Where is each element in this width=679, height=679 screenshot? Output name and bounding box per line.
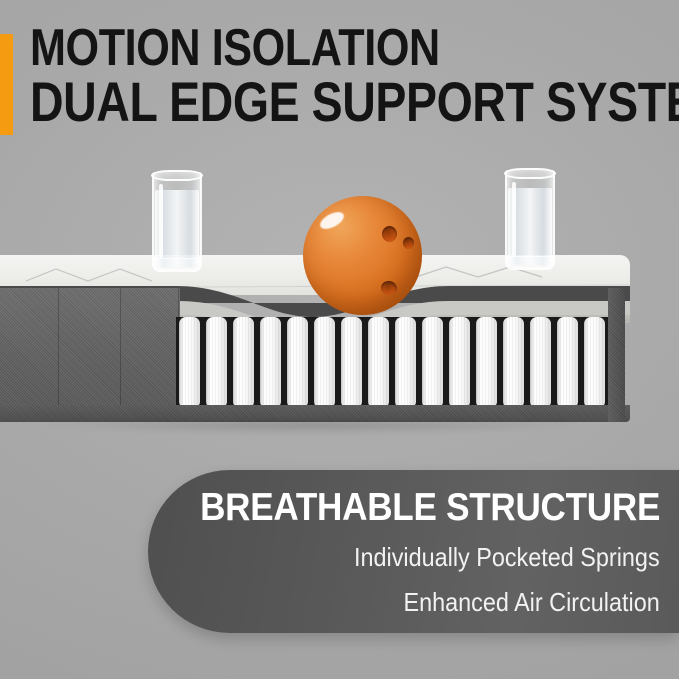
glass-highlight xyxy=(159,184,163,258)
glass-rim xyxy=(504,168,556,179)
water-glass-left xyxy=(152,172,202,272)
product-feature-banner: MOTION ISOLATION DUAL EDGE SUPPORT SYSTE… xyxy=(0,0,679,679)
mattress-side-fabric xyxy=(0,288,180,421)
spring-pocket xyxy=(206,317,227,407)
spring-pocket xyxy=(449,317,470,407)
spring-pocket xyxy=(368,317,389,407)
water-glass-right xyxy=(505,170,555,270)
spring-pocket xyxy=(584,317,605,407)
bowling-ball xyxy=(303,196,422,315)
panel-title: BREATHABLE STRUCTURE xyxy=(200,488,660,528)
mattress-base-band xyxy=(0,405,630,422)
spring-pocket xyxy=(233,317,254,407)
spring-pocket xyxy=(395,317,416,407)
ball-finger-hole xyxy=(403,237,414,249)
glass-base xyxy=(507,256,553,268)
glass-highlight xyxy=(512,182,516,256)
headline-line-1: MOTION ISOLATION xyxy=(30,19,440,77)
headline-line-2: DUAL EDGE SUPPORT SYSTEM xyxy=(30,75,545,128)
spring-pocket xyxy=(503,317,524,407)
spring-pocket xyxy=(260,317,281,407)
mattress-right-edge-band xyxy=(608,288,625,422)
panel-subtitle-2: Enhanced Air Circulation xyxy=(404,589,660,616)
page-title: MOTION ISOLATION DUAL EDGE SUPPORT SYSTE… xyxy=(30,22,545,128)
breathable-structure-panel: BREATHABLE STRUCTURE Individually Pocket… xyxy=(148,470,679,633)
spring-pocket xyxy=(287,317,308,407)
spring-pocket xyxy=(557,317,578,407)
ball-finger-hole xyxy=(382,226,397,242)
spring-pocket xyxy=(530,317,551,407)
spring-pocket xyxy=(422,317,443,407)
pocketed-spring-unit xyxy=(176,317,608,407)
orange-accent-bar xyxy=(0,34,13,135)
spring-pocket xyxy=(476,317,497,407)
spring-pocket xyxy=(314,317,335,407)
panel-subtitle-1: Individually Pocketed Springs xyxy=(354,544,660,571)
ball-thumb-hole xyxy=(380,279,399,296)
ball-highlight xyxy=(317,209,346,233)
spring-pocket xyxy=(341,317,362,407)
glass-rim xyxy=(151,170,203,181)
glass-base xyxy=(154,258,200,270)
mattress-drop-shadow xyxy=(6,422,616,438)
spring-pocket xyxy=(179,317,200,407)
